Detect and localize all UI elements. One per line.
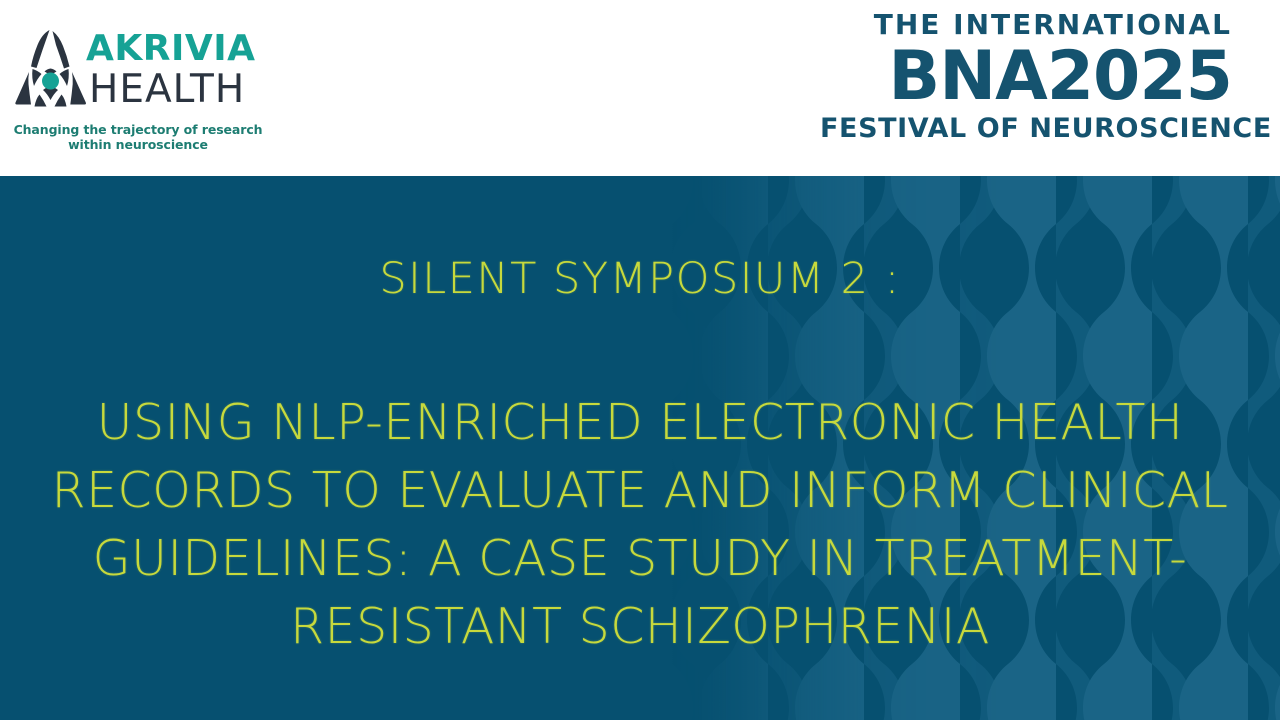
- akrivia-health-logo: AKRIVIA HEALTH Changing the trajectory o…: [8, 20, 268, 152]
- title-line-4: RESISTANT SCHIZOPHRENIA: [0, 593, 1280, 661]
- slide-body: SILENT SYMPOSIUM 2 : USING NLP-ENRICHED …: [0, 176, 1280, 720]
- title-line-2: RECORDS TO EVALUATE AND INFORM CLINICAL: [0, 457, 1280, 525]
- bna-2025-logo: THE INTERNATIONAL BNA2025 FESTIVAL OF NE…: [820, 4, 1232, 164]
- symposium-eyebrow: SILENT SYMPOSIUM 2 :: [0, 254, 1280, 304]
- title-line-3: GUIDELINES: A CASE STUDY IN TREATMENT-: [0, 525, 1280, 593]
- presentation-slide: AKRIVIA HEALTH Changing the trajectory o…: [0, 0, 1280, 720]
- akrivia-wordmark-secondary: HEALTH: [89, 67, 245, 112]
- slide-header-band: AKRIVIA HEALTH Changing the trajectory o…: [0, 0, 1280, 176]
- slide-main-title: USING NLP-ENRICHED ELECTRONIC HEALTH REC…: [0, 389, 1280, 661]
- title-line-1: USING NLP-ENRICHED ELECTRONIC HEALTH: [0, 389, 1280, 457]
- akrivia-tagline: Changing the trajectory of research with…: [8, 123, 268, 152]
- akrivia-wordmark-primary: AKRIVIA: [86, 28, 256, 69]
- akrivia-triangle-mark-icon: [12, 28, 90, 108]
- bna-logo-line-main: BNA2025: [820, 40, 1232, 114]
- akrivia-center-dot-icon: [42, 73, 59, 90]
- bna-logo-line-bottom: FESTIVAL OF NEUROSCIENCE: [820, 113, 1232, 145]
- akrivia-health-wordmark: AKRIVIA HEALTH: [86, 24, 266, 114]
- slide-title-block: SILENT SYMPOSIUM 2 : USING NLP-ENRICHED …: [0, 176, 1280, 720]
